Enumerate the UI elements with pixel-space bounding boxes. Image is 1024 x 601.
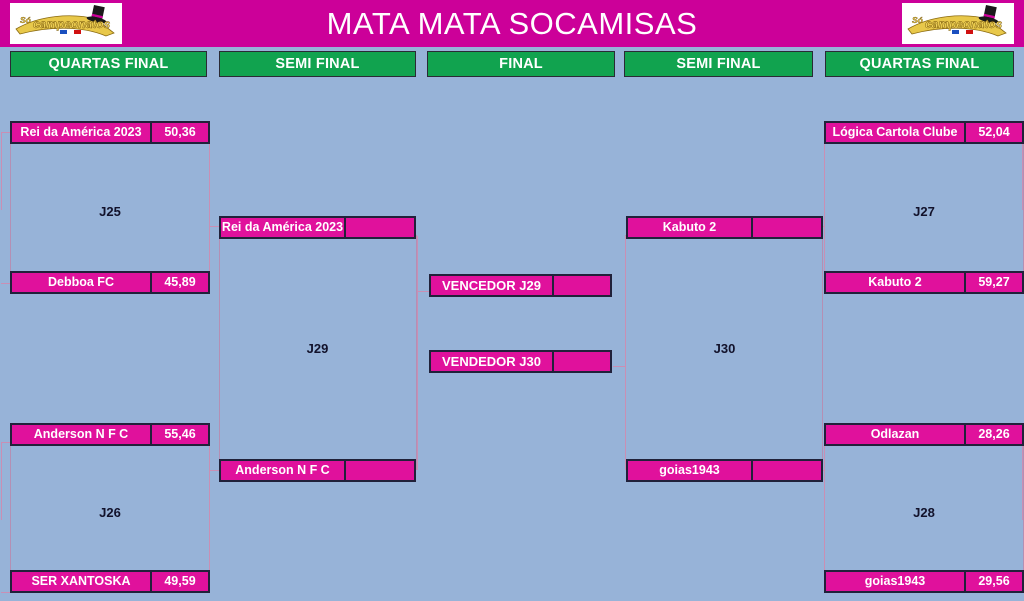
team-score bbox=[552, 352, 610, 371]
slot-final-bottom[interactable]: VENDEDOR J30 bbox=[429, 350, 612, 373]
slot-j25-bottom[interactable]: Debboa FC 45,89 bbox=[10, 271, 210, 294]
team-name: goias1943 bbox=[826, 572, 964, 591]
slot-j26-top[interactable]: Anderson N F C 55,46 bbox=[10, 423, 210, 446]
team-score: 52,04 bbox=[964, 123, 1022, 142]
team-score bbox=[344, 218, 414, 237]
slot-final-top[interactable]: VENCEDOR J29 bbox=[429, 274, 612, 297]
team-name: Debboa FC bbox=[12, 273, 150, 292]
team-name: Lógica Cartola Clube bbox=[826, 123, 964, 142]
round-header-semi-final-right: SEMI FINAL bbox=[624, 51, 813, 77]
connector-j29-out bbox=[417, 291, 429, 292]
slot-j25-top[interactable]: Rei da América 2023 50,36 bbox=[10, 121, 210, 144]
team-score: 50,36 bbox=[150, 123, 208, 142]
slot-j27-bottom[interactable]: Kabuto 2 59,27 bbox=[824, 271, 1024, 294]
slot-j30-bottom[interactable]: goias1943 bbox=[626, 459, 823, 482]
team-score: 45,89 bbox=[150, 273, 208, 292]
team-score: 28,26 bbox=[964, 425, 1022, 444]
team-name: SER XANTOSKA bbox=[12, 572, 150, 591]
round-header-quartas-final-left: QUARTAS FINAL bbox=[10, 51, 207, 77]
team-name: Kabuto 2 bbox=[628, 218, 751, 237]
connector-j25-bottom-in bbox=[1, 283, 10, 284]
team-name: goias1943 bbox=[628, 461, 751, 480]
team-score: 59,27 bbox=[964, 273, 1022, 292]
slot-j29-top[interactable]: Rei da América 2023 bbox=[219, 216, 416, 239]
round-header-semi-final-left: SEMI FINAL bbox=[219, 51, 416, 77]
slot-j30-top[interactable]: Kabuto 2 bbox=[626, 216, 823, 239]
match-id-j29: J29 bbox=[219, 341, 416, 356]
bracket-page: MATA MATA SOCAMISAS Só campeonatos bbox=[0, 0, 1024, 601]
connector-j26-top-in bbox=[1, 442, 10, 443]
team-name: Odlazan bbox=[826, 425, 964, 444]
so-campeonatos-logo-icon: Só campeonatos bbox=[902, 3, 1014, 44]
connector-j30-out bbox=[613, 366, 625, 367]
svg-text:Só: Só bbox=[20, 15, 31, 25]
team-score: 55,46 bbox=[150, 425, 208, 444]
team-name: Anderson N F C bbox=[221, 461, 344, 480]
svg-text:campeonatos: campeonatos bbox=[925, 17, 1003, 31]
connector-j25-top-in bbox=[1, 132, 10, 133]
team-score bbox=[552, 276, 610, 295]
team-name: Anderson N F C bbox=[12, 425, 150, 444]
round-header-final: FINAL bbox=[427, 51, 615, 77]
team-name: VENCEDOR J29 bbox=[431, 276, 552, 295]
page-title: MATA MATA SOCAMISAS bbox=[0, 0, 1024, 47]
slot-j26-bottom[interactable]: SER XANTOSKA 49,59 bbox=[10, 570, 210, 593]
team-name: VENDEDOR J30 bbox=[431, 352, 552, 371]
match-id-j26: J26 bbox=[10, 505, 210, 520]
team-name: Rei da América 2023 bbox=[12, 123, 150, 142]
slot-j29-bottom[interactable]: Anderson N F C bbox=[219, 459, 416, 482]
slot-j28-top[interactable]: Odlazan 28,26 bbox=[824, 423, 1024, 446]
team-score: 29,56 bbox=[964, 572, 1022, 591]
team-name: Kabuto 2 bbox=[826, 273, 964, 292]
team-score bbox=[751, 461, 821, 480]
match-id-j27: J27 bbox=[824, 204, 1024, 219]
slot-j27-top[interactable]: Lógica Cartola Clube 52,04 bbox=[824, 121, 1024, 144]
connector-j29-vertical bbox=[417, 236, 418, 470]
svg-text:Só: Só bbox=[912, 15, 923, 25]
svg-text:campeonatos: campeonatos bbox=[33, 17, 111, 31]
team-score: 49,59 bbox=[150, 572, 208, 591]
so-campeonatos-logo-icon: Só campeonatos bbox=[10, 3, 122, 44]
match-id-j25: J25 bbox=[10, 204, 210, 219]
match-id-j28: J28 bbox=[824, 505, 1024, 520]
team-score bbox=[751, 218, 821, 237]
so-campeonatos-logo-right: Só campeonatos bbox=[902, 3, 1014, 44]
team-score bbox=[344, 461, 414, 480]
title-bar: MATA MATA SOCAMISAS Só campeonatos bbox=[0, 0, 1024, 47]
connector-j26-top-stub bbox=[1, 442, 2, 520]
connector-j26-bottom-in bbox=[1, 592, 10, 593]
slot-j28-bottom[interactable]: goias1943 29,56 bbox=[824, 570, 1024, 593]
team-name: Rei da América 2023 bbox=[221, 218, 344, 237]
connector-j25-top-stub bbox=[1, 132, 2, 210]
match-id-j30: J30 bbox=[626, 341, 823, 356]
so-campeonatos-logo-left: Só campeonatos bbox=[10, 3, 122, 44]
round-header-quartas-final-right: QUARTAS FINAL bbox=[825, 51, 1014, 77]
